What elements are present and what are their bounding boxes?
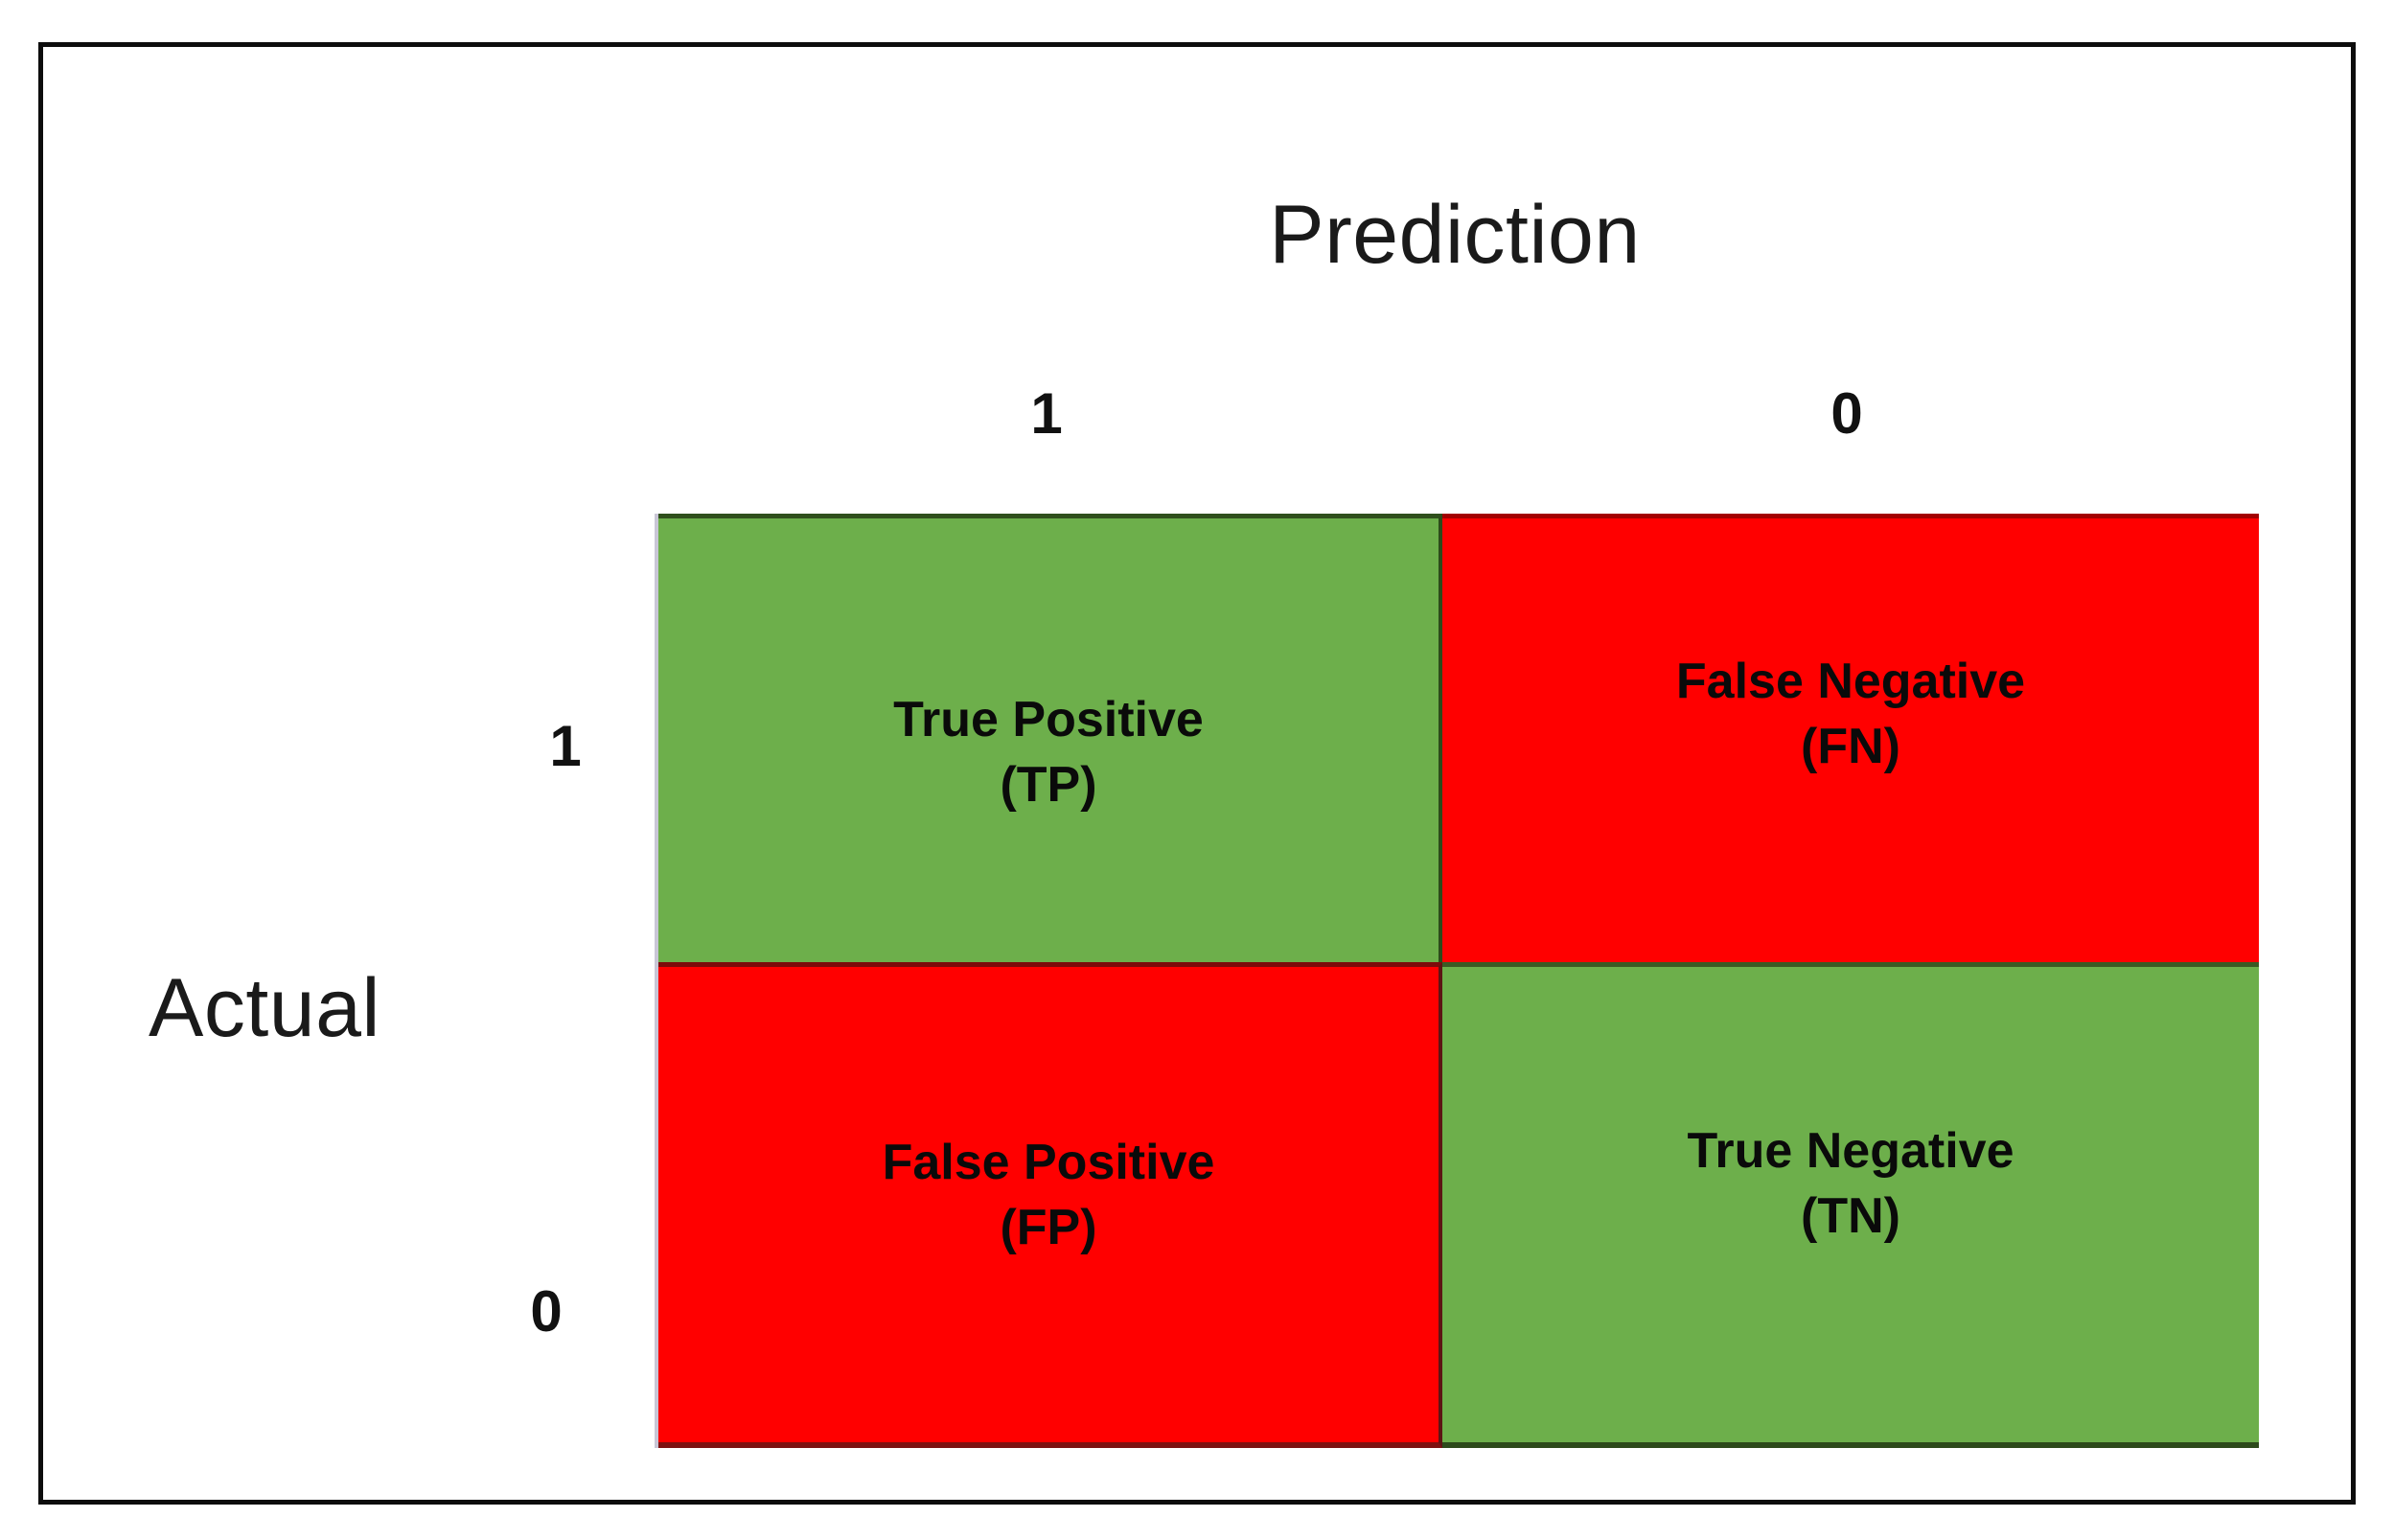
column-label-1: 1 [655, 382, 1439, 446]
cell-true-positive-text: True Positive (TP) [893, 687, 1204, 817]
actual-axis-title: Actual [149, 962, 551, 1054]
row-label-1: 1 [494, 715, 637, 778]
cell-true-negative-name: True Negative [1687, 1118, 2014, 1184]
cell-true-negative-abbr: (TN) [1687, 1184, 2014, 1249]
matrix-grid: True Positive (TP) False Negative (FN) F… [655, 514, 2255, 1448]
cell-false-positive-text: False Positive (FP) [883, 1130, 1215, 1260]
cell-true-negative[interactable]: True Negative (TN) [1442, 962, 2259, 1448]
cell-true-positive-abbr: (TP) [893, 752, 1204, 817]
figure-frame: Prediction Actual 1 0 1 0 True Positive … [38, 42, 2356, 1505]
cell-false-negative-abbr: (FN) [1676, 714, 2025, 779]
cell-false-negative[interactable]: False Negative (FN) [1442, 514, 2259, 962]
cell-false-positive[interactable]: False Positive (FP) [658, 962, 1442, 1448]
cell-true-positive-name: True Positive [893, 687, 1204, 752]
row-label-0: 0 [474, 1280, 618, 1344]
cell-true-positive[interactable]: True Positive (TP) [658, 514, 1442, 962]
column-label-0: 0 [1439, 382, 2255, 446]
cell-false-negative-text: False Negative (FN) [1676, 649, 2025, 779]
cell-false-positive-abbr: (FP) [883, 1195, 1215, 1260]
cell-true-negative-text: True Negative (TN) [1687, 1118, 2014, 1249]
prediction-axis-title: Prediction [655, 189, 2255, 281]
confusion-matrix-figure: Prediction Actual 1 0 1 0 True Positive … [0, 0, 2394, 1540]
cell-false-positive-name: False Positive [883, 1130, 1215, 1195]
cell-false-negative-name: False Negative [1676, 649, 2025, 714]
